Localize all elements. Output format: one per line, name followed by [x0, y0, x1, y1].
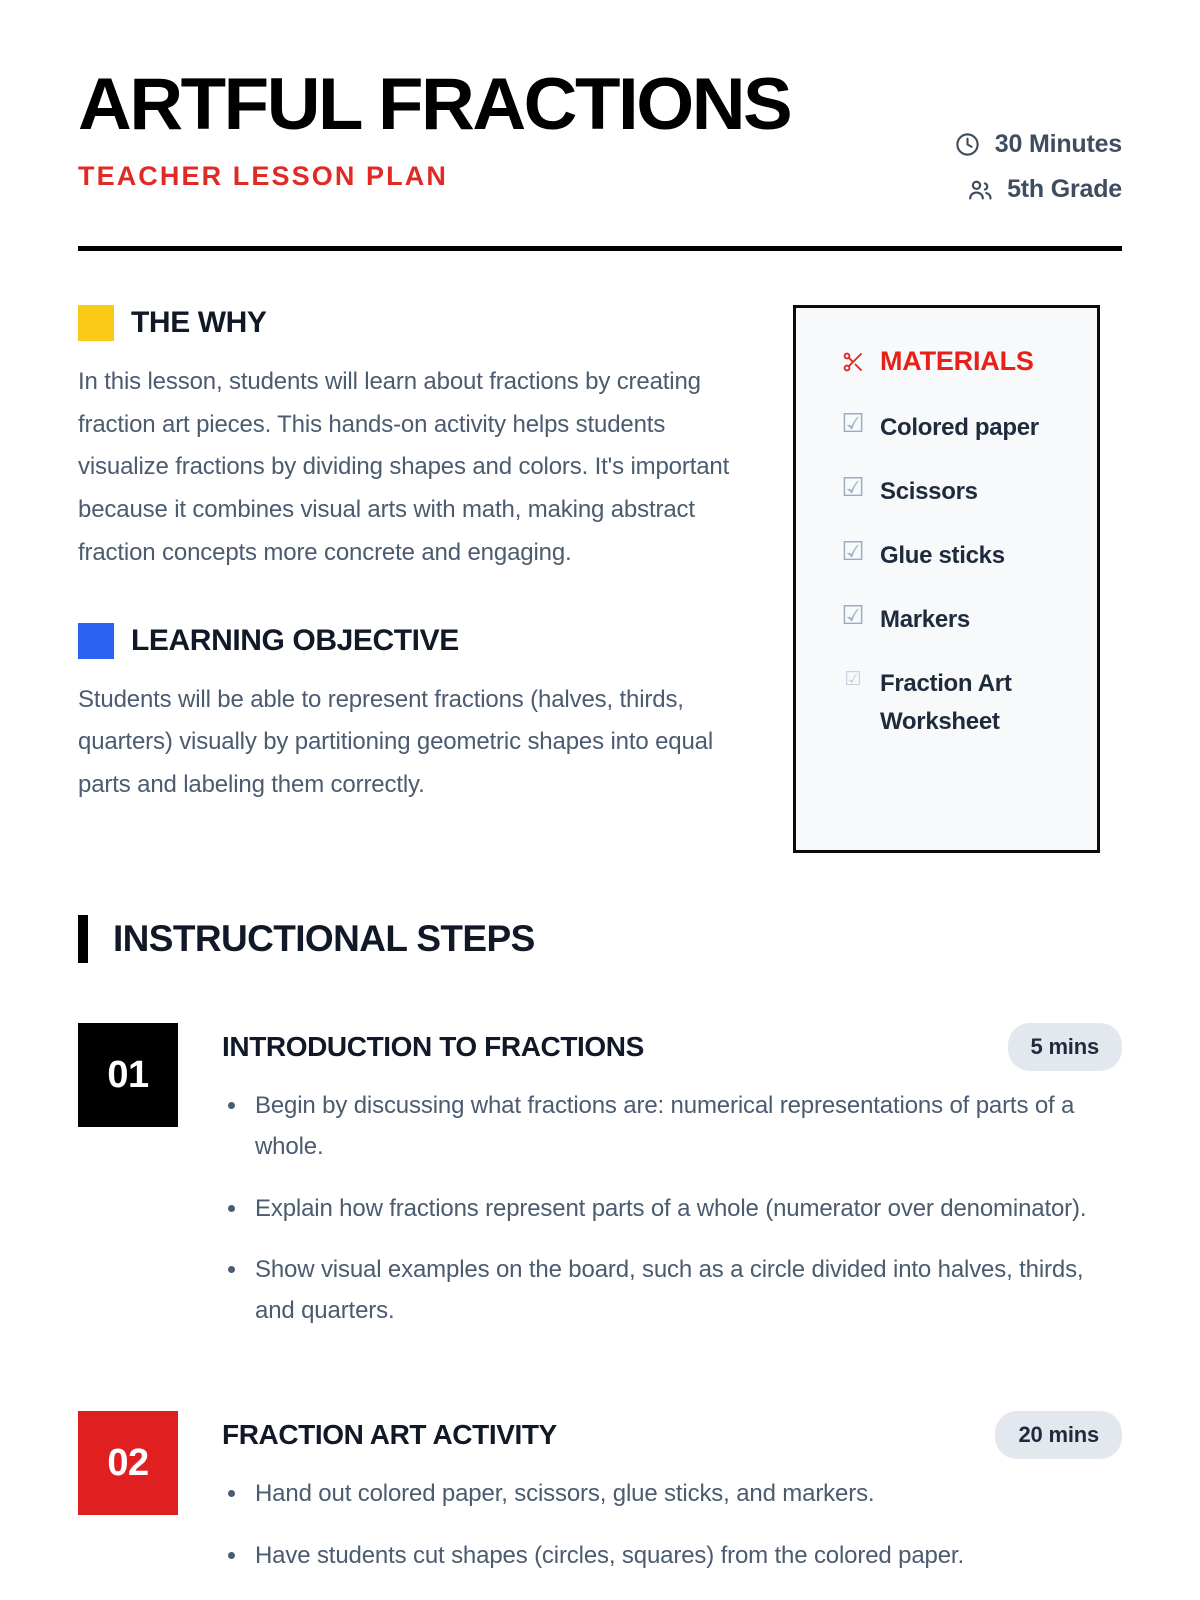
checkbox-checked-icon[interactable]: ☑ [840, 665, 866, 694]
step-bullet-list: Begin by discussing what fractions are: … [222, 1085, 1122, 1331]
materials-header: MATERIALS [840, 346, 1075, 377]
material-item: ☑ Markers [840, 601, 1075, 640]
step-title: INTRODUCTION TO FRACTIONS [222, 1031, 644, 1063]
checkbox-checked-icon[interactable]: ☑ [840, 601, 866, 631]
section-learning-objective-header: LEARNING OBJECTIVE [78, 623, 738, 659]
page-title: ARTFUL FRACTIONS [78, 70, 790, 139]
step-number-badge: 01 [78, 1023, 178, 1127]
page-header: ARTFUL FRACTIONS TEACHER LESSON PLAN 30 … [78, 0, 1122, 204]
checkbox-checked-icon[interactable]: ☑ [840, 537, 866, 567]
step-number-badge: 02 [78, 1411, 178, 1515]
main-content: THE WHY In this lesson, students will le… [78, 305, 1122, 853]
step-bullet: Explain how fractions represent parts of… [222, 1188, 1122, 1229]
step-titlebar: FRACTION ART ACTIVITY 20 mins [222, 1411, 1122, 1459]
meta-duration: 30 Minutes [953, 130, 1122, 159]
step-item: 01 INTRODUCTION TO FRACTIONS 5 mins Begi… [78, 1023, 1122, 1351]
section-learning-objective: LEARNING OBJECTIVE Students will be able… [78, 623, 738, 807]
step-bullet: Show visual examples on the board, such … [222, 1249, 1122, 1332]
header-divider [78, 246, 1122, 251]
scissors-icon [840, 349, 866, 375]
step-duration-badge: 5 mins [1008, 1023, 1123, 1071]
meta-grade: 5th Grade [965, 175, 1122, 204]
blue-swatch-icon [78, 623, 114, 659]
people-icon [965, 175, 994, 204]
section-learning-objective-title: LEARNING OBJECTIVE [131, 624, 459, 658]
instructional-steps-title: INSTRUCTIONAL STEPS [113, 918, 535, 960]
step-content: FRACTION ART ACTIVITY 20 mins Hand out c… [222, 1411, 1122, 1596]
instructional-steps-section: INSTRUCTIONAL STEPS 01 INTRODUCTION TO F… [78, 915, 1122, 1596]
left-column: THE WHY In this lesson, students will le… [78, 305, 738, 807]
step-content: INTRODUCTION TO FRACTIONS 5 mins Begin b… [222, 1023, 1122, 1351]
section-the-why-title: THE WHY [131, 306, 267, 340]
section-spacer [78, 575, 738, 623]
material-label: Colored paper [880, 409, 1039, 448]
checkbox-checked-icon[interactable]: ☑ [840, 409, 866, 439]
step-bullet: Hand out colored paper, scissors, glue s… [222, 1473, 1122, 1514]
clock-icon [953, 130, 982, 159]
section-accent-bar [78, 915, 88, 963]
material-item: ☑ Fraction Art Worksheet [840, 665, 1075, 743]
checkbox-checked-icon[interactable]: ☑ [840, 473, 866, 503]
instructional-steps-header: INSTRUCTIONAL STEPS [78, 915, 1122, 963]
step-duration-badge: 20 mins [995, 1411, 1122, 1459]
section-the-why-body: In this lesson, students will learn abou… [78, 361, 738, 575]
materials-title: MATERIALS [880, 346, 1034, 377]
material-item: ☑ Glue sticks [840, 537, 1075, 576]
step-bullet: Have students cut shapes (circles, squar… [222, 1535, 1122, 1576]
meta-duration-label: 30 Minutes [995, 130, 1122, 159]
material-item: ☑ Scissors [840, 473, 1075, 512]
header-title-group: ARTFUL FRACTIONS TEACHER LESSON PLAN [78, 66, 776, 192]
lesson-plan-page: ARTFUL FRACTIONS TEACHER LESSON PLAN 30 … [0, 0, 1200, 1600]
material-label: Scissors [880, 473, 978, 512]
meta-grade-label: 5th Grade [1007, 175, 1122, 204]
yellow-swatch-icon [78, 305, 114, 341]
section-the-why: THE WHY In this lesson, students will le… [78, 305, 738, 575]
materials-card: MATERIALS ☑ Colored paper ☑ Scissors ☑ G… [793, 305, 1100, 853]
page-subtitle: TEACHER LESSON PLAN [78, 161, 776, 192]
material-item: ☑ Colored paper [840, 409, 1075, 448]
step-bullet-list: Hand out colored paper, scissors, glue s… [222, 1473, 1122, 1576]
section-learning-objective-body: Students will be able to represent fract… [78, 679, 738, 807]
step-title: FRACTION ART ACTIVITY [222, 1419, 557, 1451]
material-label: Markers [880, 601, 970, 640]
material-label: Fraction Art Worksheet [880, 665, 1075, 743]
step-item: 02 FRACTION ART ACTIVITY 20 mins Hand ou… [78, 1411, 1122, 1596]
material-label: Glue sticks [880, 537, 1005, 576]
step-titlebar: INTRODUCTION TO FRACTIONS 5 mins [222, 1023, 1122, 1071]
header-meta: 30 Minutes 5th Grade [953, 66, 1122, 204]
section-the-why-header: THE WHY [78, 305, 738, 341]
right-column: MATERIALS ☑ Colored paper ☑ Scissors ☑ G… [793, 305, 1100, 853]
step-bullet: Begin by discussing what fractions are: … [222, 1085, 1122, 1168]
